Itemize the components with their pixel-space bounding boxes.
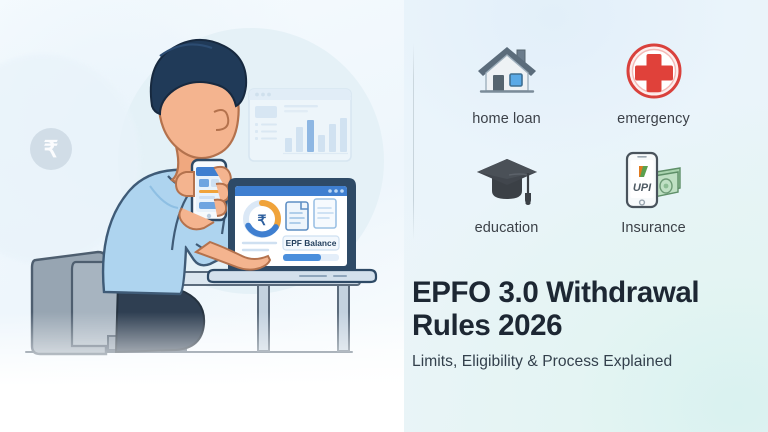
grid-item-insurance[interactable]: UPI Insurance (587, 145, 720, 248)
grid-item-emergency[interactable]: emergency (587, 36, 720, 139)
svg-text:UPI: UPI (632, 182, 651, 194)
grid-item-home-loan[interactable]: home loan (440, 36, 573, 139)
medical-cross-icon (625, 36, 683, 106)
upi-phone-money-icon: UPI (622, 145, 686, 215)
icon-label-education: education (475, 220, 539, 236)
poster-canvas: ₹ (0, 0, 768, 432)
vertical-divider (413, 43, 414, 240)
epf-balance-badge: EPF Balance (283, 236, 339, 261)
benefit-icon-grid: home loan emergency (440, 36, 720, 248)
icon-label-home-loan: home loan (472, 111, 541, 127)
laptop-document-1 (286, 202, 308, 230)
icon-label-emergency: emergency (617, 111, 690, 127)
headline-block: EPFO 3.0 Withdrawal Rules 2026 Limits, E… (412, 276, 756, 371)
icon-label-insurance: Insurance (621, 220, 686, 236)
svg-text:EPF Balance: EPF Balance (286, 238, 337, 248)
page-title-line-2: Rules 2026 (412, 309, 756, 342)
page-title-line-1: EPFO 3.0 Withdrawal (412, 276, 756, 309)
bottom-white-fade (0, 312, 404, 432)
page-title: EPFO 3.0 Withdrawal Rules 2026 (412, 276, 756, 342)
house-icon (475, 36, 539, 106)
svg-text:₹: ₹ (258, 212, 267, 228)
page-subtitle: Limits, Eligibility & Process Explained (412, 353, 756, 371)
graduation-cap-icon (475, 145, 539, 215)
laptop-document-2 (314, 199, 336, 228)
grid-item-education[interactable]: education (440, 145, 573, 248)
